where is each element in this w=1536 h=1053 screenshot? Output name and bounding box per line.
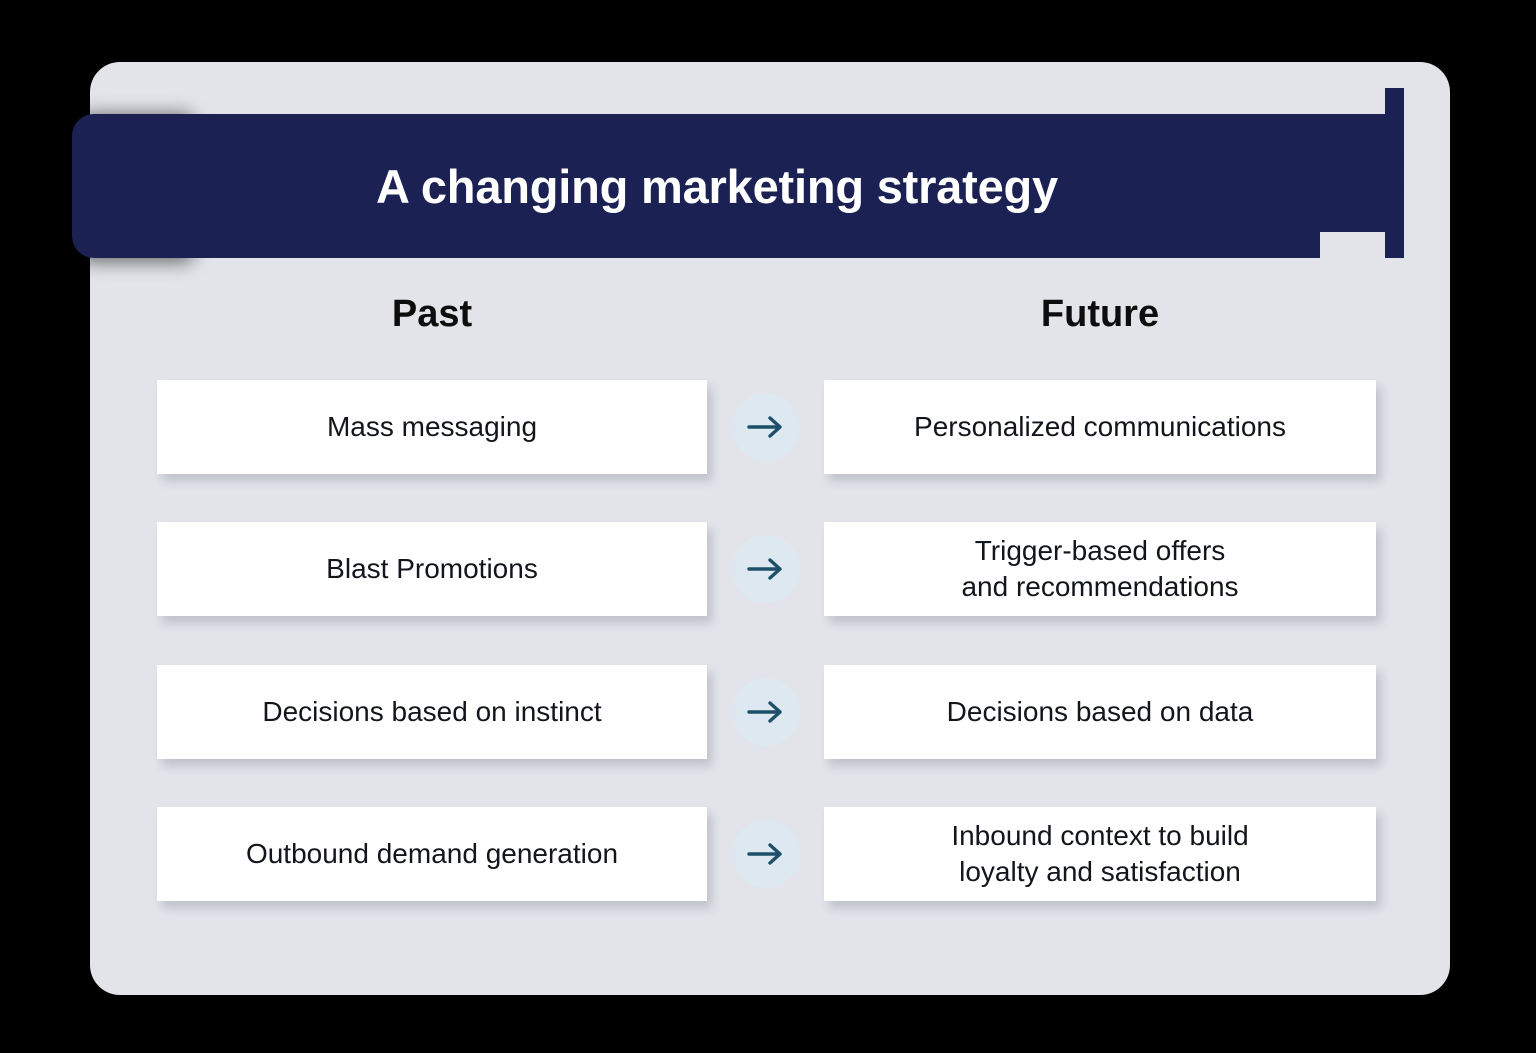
past-card-1[interactable]: Mass messaging [157,380,707,474]
arrow-right-icon [732,820,800,888]
comparison-rows: Mass messaging Personalized communicatio… [0,0,1536,1053]
table-row: Decisions based on instinct Decisions ba… [0,665,1536,759]
future-card-2-label: Trigger-based offers and recommendations [961,533,1238,606]
past-card-1-label: Mass messaging [327,409,537,445]
table-row: Blast Promotions Trigger-based offers an… [0,522,1536,616]
past-card-2-label: Blast Promotions [326,551,538,587]
past-card-2[interactable]: Blast Promotions [157,522,707,616]
future-card-3-label: Decisions based on data [947,694,1254,730]
future-card-1-label: Personalized communications [914,409,1286,445]
past-card-4-label: Outbound demand generation [246,836,618,872]
slide-canvas: A changing marketing strategy Past Futur… [0,0,1536,1053]
future-card-4[interactable]: Inbound context to build loyalty and sat… [824,807,1376,901]
arrow-right-icon [732,393,800,461]
future-card-1[interactable]: Personalized communications [824,380,1376,474]
table-row: Outbound demand generation Inbound conte… [0,807,1536,901]
future-card-3[interactable]: Decisions based on data [824,665,1376,759]
past-card-4[interactable]: Outbound demand generation [157,807,707,901]
arrow-right-icon [732,678,800,746]
arrow-right-icon [732,535,800,603]
past-card-3[interactable]: Decisions based on instinct [157,665,707,759]
past-card-3-label: Decisions based on instinct [262,694,601,730]
future-card-4-label: Inbound context to build loyalty and sat… [951,818,1248,891]
table-row: Mass messaging Personalized communicatio… [0,380,1536,474]
future-card-2[interactable]: Trigger-based offers and recommendations [824,522,1376,616]
